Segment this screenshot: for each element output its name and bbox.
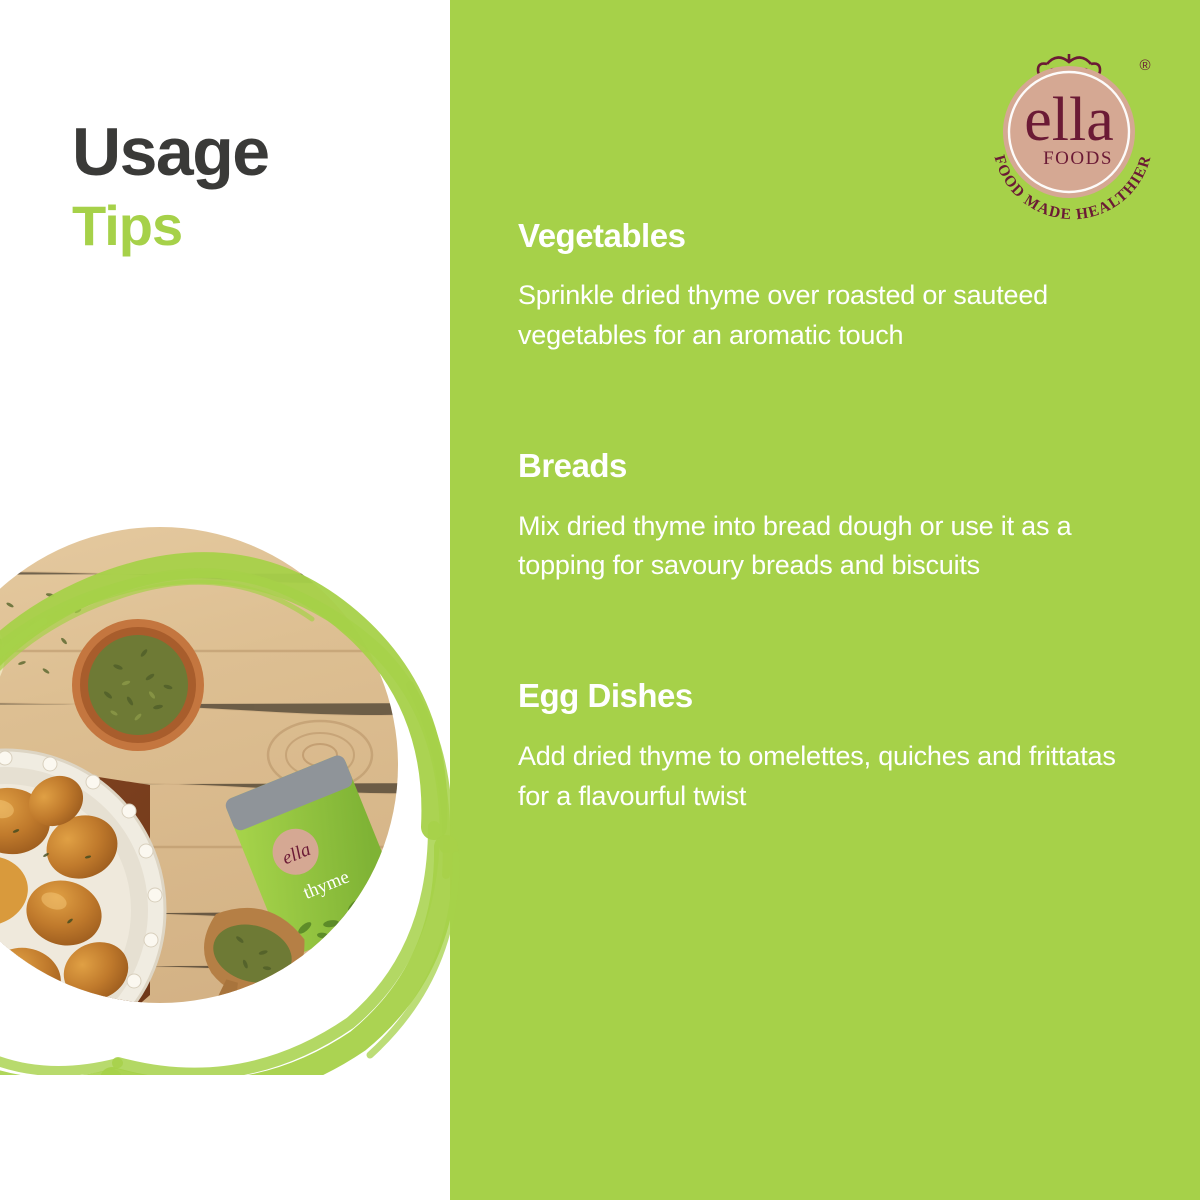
registered-trademark-icon: ® <box>1139 57 1150 74</box>
headline-primary: Usage <box>72 118 432 186</box>
page-title: Usage Tips <box>72 118 432 254</box>
tip-body: Sprinkle dried thyme over roasted or sau… <box>518 276 1128 356</box>
food-photo-illustration: ella thyme <box>0 455 470 1075</box>
headline-secondary: Tips <box>72 198 432 254</box>
tip-item-breads: Breads Mix dried thyme into bread dough … <box>518 448 1128 586</box>
tip-title: Egg Dishes <box>518 678 1128 714</box>
tip-title: Breads <box>518 448 1128 484</box>
food-photo-block: ella thyme <box>0 455 470 1075</box>
logo-wordmark: ella <box>1024 86 1114 154</box>
brand-logo: ella FOODS ® FOOD MADE HEALTHIER <box>985 40 1160 220</box>
ella-foods-logo-icon: ella FOODS ® FOOD MADE HEALTHIER <box>985 40 1160 220</box>
tip-item-egg-dishes: Egg Dishes Add dried thyme to omelettes,… <box>518 678 1128 816</box>
poster-canvas: Usage Tips <box>0 0 1200 1200</box>
tip-body: Mix dried thyme into bread dough or use … <box>518 507 1128 587</box>
usage-tips-list: Vegetables Sprinkle dried thyme over roa… <box>518 218 1128 817</box>
logo-subtitle: FOODS <box>1043 148 1113 169</box>
tip-body: Add dried thyme to omelettes, quiches an… <box>518 737 1128 817</box>
tip-item-vegetables: Vegetables Sprinkle dried thyme over roa… <box>518 218 1128 356</box>
tip-title: Vegetables <box>518 218 1128 254</box>
